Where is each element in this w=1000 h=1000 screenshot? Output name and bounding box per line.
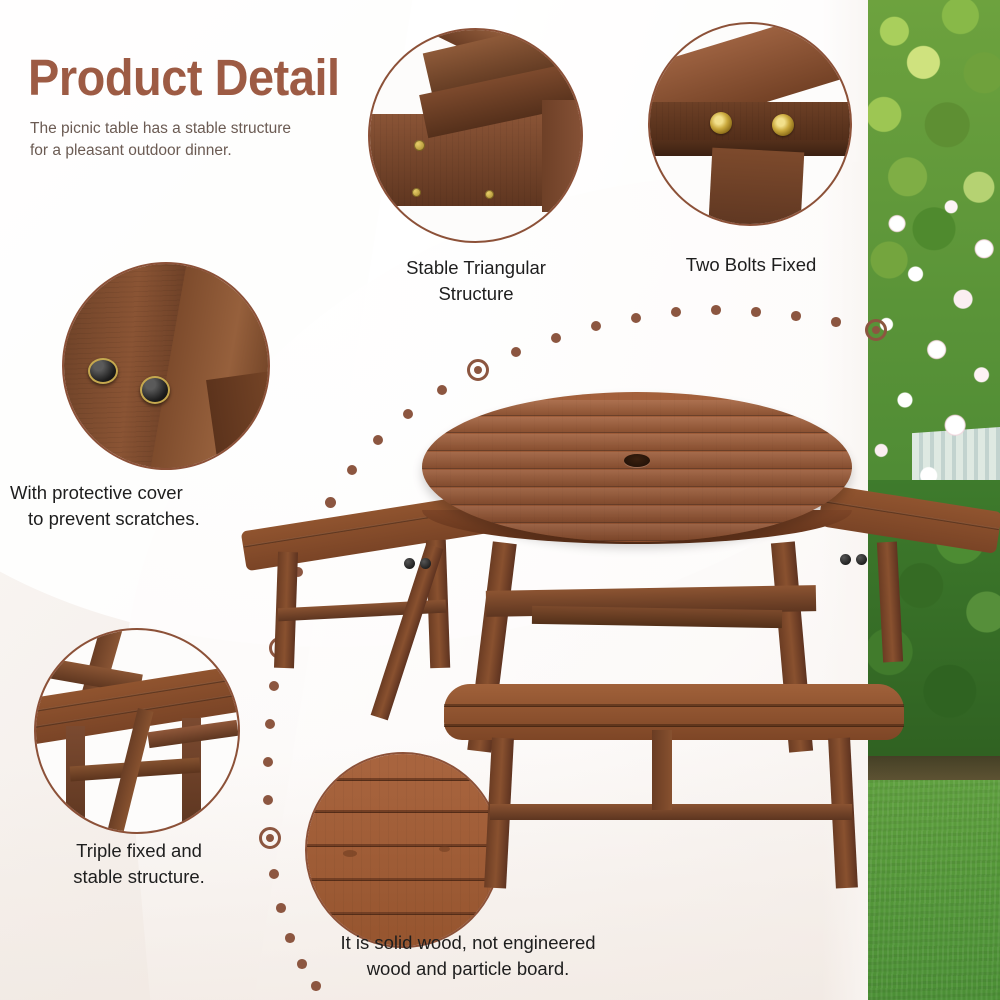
tabletop: [422, 392, 852, 542]
subtitle-line-2: for a pleasant outdoor dinner.: [30, 140, 360, 162]
caption-line-1: Triple fixed and: [18, 838, 260, 864]
caption-stable-triangular-structure: Stable Triangular Structure: [370, 255, 582, 308]
arc-dot: [831, 317, 840, 326]
arc-ring-center: [474, 366, 482, 374]
arc-dot: [631, 313, 641, 323]
bolt-cap-left-b: [420, 558, 431, 569]
product-photo-picnic-table: [232, 392, 932, 952]
detail-photo-triangular-brace: [370, 30, 581, 241]
arc-dot: [711, 305, 721, 315]
detail-photo-bench-structure: [36, 630, 238, 832]
caption-two-bolts-fixed: Two Bolts Fixed: [640, 252, 862, 278]
infographic-canvas: Product Detail The picnic table has a st…: [0, 0, 1000, 1000]
caption-line-1: Stable Triangular: [370, 255, 582, 281]
caption-line-2: Structure: [370, 281, 582, 307]
detail-photo-two-bolts: [650, 24, 850, 224]
caption-line-2: stable structure.: [18, 864, 260, 890]
caption-triple-fixed: Triple fixed and stable structure.: [18, 838, 260, 891]
detail-circle-triple-fixed: [34, 628, 240, 834]
detail-circle-stable-triangular-structure: [368, 28, 583, 243]
arc-dot: [671, 307, 681, 317]
arc-dot: [791, 311, 801, 321]
detail-circle-two-bolts-fixed: [648, 22, 852, 226]
page-title: Product Detail: [28, 52, 340, 103]
umbrella-hole: [624, 454, 650, 467]
table-lower-stretcher: [532, 606, 782, 628]
bench-front-center-support: [652, 730, 672, 810]
arc-dot: [311, 981, 320, 990]
arc-dot: [591, 321, 601, 331]
bench-front-seat: [444, 684, 904, 740]
bolt-cap-left-a: [404, 558, 415, 569]
arc-ring-center: [872, 326, 880, 334]
bolt-cap-right-b: [856, 554, 867, 565]
bolt-cap-right-a: [840, 554, 851, 565]
arc-dot: [751, 307, 761, 317]
bench-right-leg: [877, 542, 903, 663]
caption-line-2: wood and particle board.: [228, 956, 708, 982]
page-subtitle: The picnic table has a stable structure …: [30, 118, 360, 163]
caption-line-1: Two Bolts Fixed: [640, 252, 862, 278]
subtitle-line-1: The picnic table has a stable structure: [30, 118, 360, 140]
